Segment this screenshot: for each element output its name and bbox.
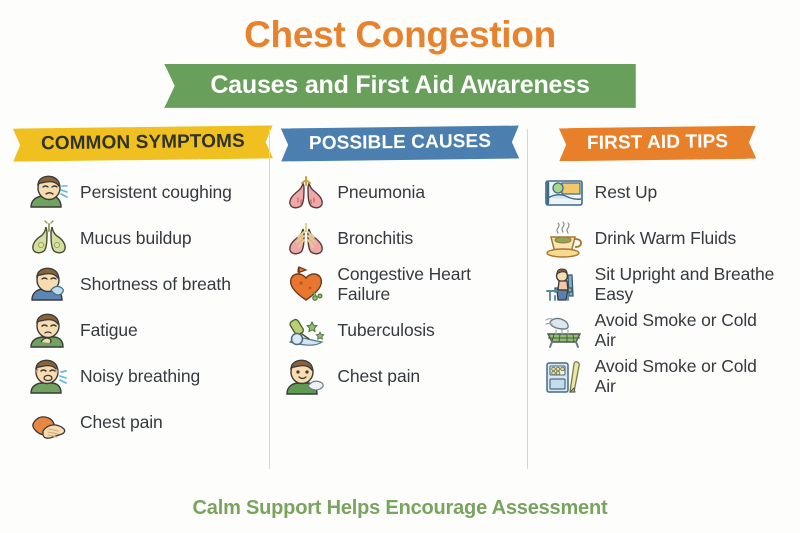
list-item[interactable]: Fatigue xyxy=(26,311,263,351)
list-item[interactable]: Noisy breathing xyxy=(26,357,263,397)
smoke-grill-icon xyxy=(541,311,587,351)
columns-container: COMMON SYMPTOMS xyxy=(0,127,800,457)
list-item[interactable]: Avoid Smoke or Cold Air xyxy=(541,311,778,351)
list-item[interactable]: Pneumonia xyxy=(283,173,520,213)
list-item-label: Chest pain xyxy=(337,367,420,387)
footer-text: Calm Support Helps Encourage Assessment xyxy=(0,497,800,520)
column-3-list: Rest Up Drink Warm Fluids xyxy=(537,173,778,397)
column-common-symptoms: COMMON SYMPTOMS xyxy=(14,127,271,457)
list-item-label: Rest Up xyxy=(595,183,658,203)
column-3-heading-label: FIRST AID TIPS xyxy=(569,126,746,161)
list-item[interactable]: Mucus buildup xyxy=(26,219,263,259)
list-item[interactable]: Persistent coughing xyxy=(26,173,263,213)
heart-icon xyxy=(283,265,329,305)
subtitle-ribbon: Causes and First Aid Awareness xyxy=(0,64,800,108)
column-3-header: FIRST AID TIPS xyxy=(537,127,778,160)
person-chest-pain-icon xyxy=(283,357,329,397)
list-item[interactable]: Congestive Heart Failure xyxy=(283,265,520,305)
list-item-label: Shortness of breath xyxy=(80,275,231,295)
column-1-list: Persistent coughing Mucus buildup xyxy=(22,173,263,443)
list-item-label: Mucus buildup xyxy=(80,229,192,249)
column-1-heading-label: COMMON SYMPTOMS xyxy=(23,125,263,161)
person-coughing-icon xyxy=(26,173,72,213)
list-item-label: Persistent coughing xyxy=(80,183,232,203)
list-item[interactable]: Rest Up xyxy=(541,173,778,213)
column-2-heading-label: POSSIBLE CAUSES xyxy=(291,126,509,162)
list-item-label: Avoid Smoke or Cold Air xyxy=(595,357,778,396)
list-item-label: Congestive Heart Failure xyxy=(337,265,520,304)
microscope-icon xyxy=(283,311,329,351)
list-item[interactable]: Drink Warm Fluids xyxy=(541,219,778,259)
list-item[interactable]: Avoid Smoke or Cold Air xyxy=(541,357,778,397)
infographic-root: Chest Congestion Causes and First Aid Aw… xyxy=(0,0,800,457)
list-item-label: Fatigue xyxy=(80,321,138,341)
list-item[interactable]: Chest pain xyxy=(26,403,263,443)
list-item-label: Avoid Smoke or Cold Air xyxy=(595,311,778,350)
list-item[interactable]: Tuberculosis xyxy=(283,311,520,351)
person-sitting-chair-icon xyxy=(541,265,587,305)
list-item[interactable]: Sit Upright and Breathe Easy xyxy=(541,265,778,305)
lungs-icon xyxy=(283,173,329,213)
bronchial-lungs-icon xyxy=(283,219,329,259)
column-first-aid-tips: FIRST AID TIPS Rest Up xyxy=(529,127,786,457)
list-item-label: Tuberculosis xyxy=(337,321,434,341)
stove-appliance-icon xyxy=(541,357,587,397)
column-2-header: POSSIBLE CAUSES xyxy=(279,127,520,160)
subtitle-text: Causes and First Aid Awareness xyxy=(164,64,635,108)
list-item[interactable]: Bronchitis xyxy=(283,219,520,259)
column-1-header: COMMON SYMPTOMS xyxy=(22,127,263,160)
list-item-label: Noisy breathing xyxy=(80,367,200,387)
column-2-list: Pneumonia Bronchitis xyxy=(279,173,520,397)
column-possible-causes: POSSIBLE CAUSES Pneumonia xyxy=(271,127,528,457)
green-lungs-mucus-icon xyxy=(26,219,72,259)
hot-drink-cup-icon xyxy=(541,219,587,259)
person-tissue-icon xyxy=(26,265,72,305)
list-item-label: Sit Upright and Breathe Easy xyxy=(595,265,778,304)
list-item-label: Drink Warm Fluids xyxy=(595,229,737,249)
bed-rest-icon xyxy=(541,173,587,213)
list-item-label: Chest pain xyxy=(80,413,163,433)
page-title: Chest Congestion xyxy=(0,0,800,55)
list-item[interactable]: Shortness of breath xyxy=(26,265,263,305)
list-item-label: Pneumonia xyxy=(337,183,425,203)
person-tired-icon xyxy=(26,311,72,351)
person-wheezing-icon xyxy=(26,357,72,397)
hands-chest-icon xyxy=(26,403,72,443)
list-item-label: Bronchitis xyxy=(337,229,413,249)
list-item[interactable]: Chest pain xyxy=(283,357,520,397)
